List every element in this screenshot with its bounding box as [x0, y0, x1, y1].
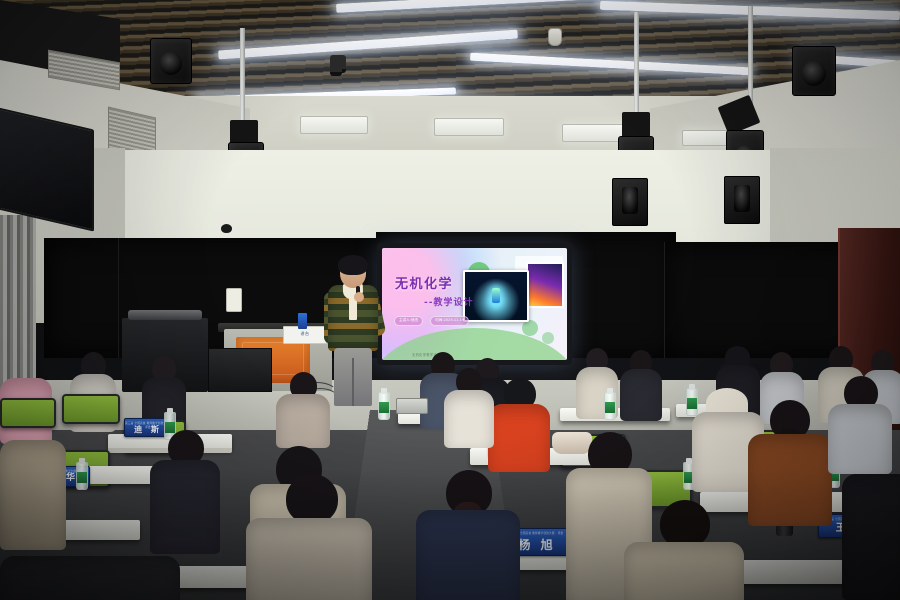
person-body — [416, 510, 520, 600]
audience-person — [828, 376, 892, 468]
audience-person — [620, 350, 662, 420]
person-body — [246, 518, 372, 600]
speaker-mount-pole — [240, 28, 245, 124]
audience-person — [150, 430, 220, 550]
audience-person — [0, 440, 66, 550]
person-body — [444, 390, 494, 448]
person-body — [0, 556, 180, 600]
person-head — [660, 500, 710, 548]
presenter-legs — [334, 348, 372, 406]
audience-person — [488, 378, 550, 468]
laptop[interactable] — [396, 398, 428, 414]
water-bottle — [604, 392, 616, 420]
slide-badge-group: 主讲人:熊杰 时间:2025.11.19 — [394, 316, 469, 326]
hanging-speaker — [150, 38, 192, 84]
audience-person — [624, 500, 744, 600]
slide-decor-circle — [522, 320, 538, 336]
podium-side-panel — [208, 348, 272, 392]
person-body — [276, 394, 330, 448]
projection-screen[interactable]: 无机化学 --教学设计 主讲人:熊杰 时间:2025.11.19 无机化学教学设… — [377, 243, 572, 365]
chair[interactable] — [62, 394, 120, 424]
wall-control-plate — [226, 288, 242, 312]
blackboard-seam — [118, 238, 119, 358]
wall-speaker — [724, 176, 760, 224]
podium-device — [298, 313, 307, 329]
person-body — [624, 542, 744, 600]
water-bottle — [378, 392, 390, 420]
water-bottle — [76, 462, 88, 490]
recessed-panel-light — [434, 118, 504, 136]
recessed-panel-light — [300, 116, 368, 134]
audience-person — [842, 474, 900, 600]
person-body — [828, 404, 892, 474]
hanging-speaker — [792, 46, 836, 96]
ceiling-camera-icon — [330, 62, 342, 76]
person-body — [0, 440, 66, 550]
slide-decor-wave — [382, 328, 567, 360]
blackboard-seam — [664, 242, 665, 358]
person-body — [842, 474, 900, 600]
lecture-hall-photo: 无机化学 --教学设计 主讲人:熊杰 时间:2025.11.19 无机化学教学设… — [0, 0, 900, 600]
blackboard-right — [664, 242, 864, 358]
person-body — [488, 404, 550, 472]
nameplate-name: 杨 旭 — [518, 539, 555, 551]
speaker-mount-pole — [634, 12, 639, 116]
audience-person — [246, 474, 372, 600]
chair[interactable] — [0, 398, 56, 428]
slide-badge-presenter: 主讲人:熊杰 — [394, 316, 423, 326]
podium-sign-label: 讲台 — [284, 331, 326, 337]
audience-person — [444, 368, 494, 444]
slide-subtitle: --教学设计 — [424, 295, 473, 308]
slide-surface: 无机化学 --教学设计 主讲人:熊杰 时间:2025.11.19 无机化学教学设… — [382, 248, 567, 360]
wall-speaker — [612, 178, 648, 226]
smoke-detector-icon — [548, 28, 562, 46]
presenter-hair — [338, 255, 368, 275]
person-head — [286, 474, 338, 524]
audience-person — [276, 372, 330, 444]
person-body — [748, 434, 832, 526]
slide-image-secondary — [526, 262, 564, 308]
audience-person — [748, 400, 832, 520]
presenter-hand — [354, 292, 364, 302]
slide-title: 无机化学 — [395, 273, 453, 292]
slide-badge-date: 时间:2025.11.19 — [430, 316, 469, 326]
presenter — [326, 258, 380, 406]
audience-person — [0, 556, 180, 600]
person-body — [620, 369, 662, 421]
person-body — [150, 460, 220, 554]
audience-person — [416, 470, 520, 600]
ptz-camera-icon — [218, 213, 235, 233]
